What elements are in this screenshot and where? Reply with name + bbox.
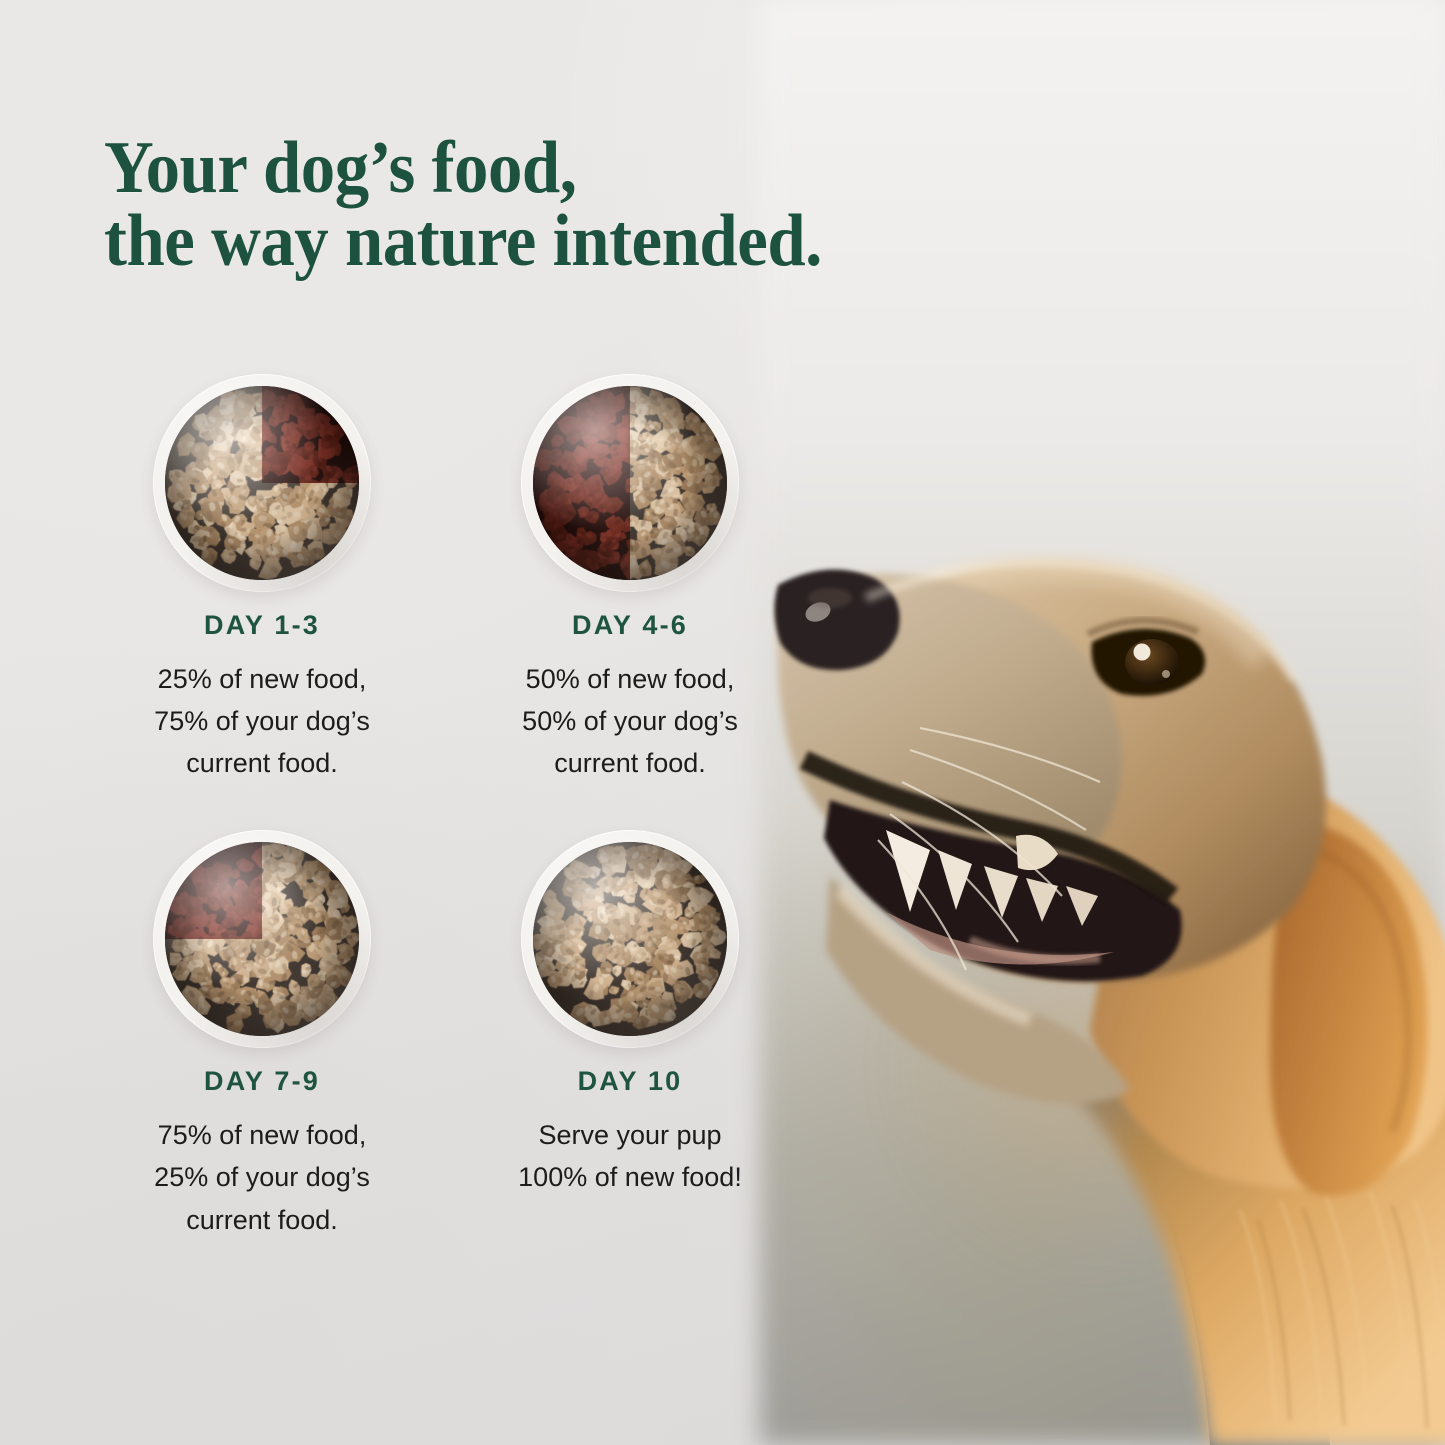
kibble-area xyxy=(533,386,727,580)
infographic-page: Your dog’s food, the way nature intended… xyxy=(0,0,1445,1445)
step-day-10: DAY 10 Serve your pup 100% of new food! xyxy=(460,828,800,1240)
kibble-canvas xyxy=(165,386,359,580)
step-day-4-6: DAY 4-6 50% of new food, 50% of your dog… xyxy=(460,372,800,784)
bowl-day-1-3-wrap xyxy=(92,372,432,594)
day-label: DAY 7-9 xyxy=(92,1066,432,1097)
day-description: Serve your pup 100% of new food! xyxy=(460,1114,800,1198)
day-description: 50% of new food, 50% of your dog’s curre… xyxy=(460,658,800,784)
day-label: DAY 1-3 xyxy=(92,610,432,641)
day-label: DAY 10 xyxy=(460,1066,800,1097)
food-bowl xyxy=(153,374,371,592)
feeding-transition-steps: DAY 1-3 25% of new food, 75% of your dog… xyxy=(92,372,832,1241)
step-day-1-3: DAY 1-3 25% of new food, 75% of your dog… xyxy=(92,372,432,784)
day-label: DAY 4-6 xyxy=(460,610,800,641)
kibble-area xyxy=(165,842,359,1036)
day-description: 25% of new food, 75% of your dog’s curre… xyxy=(92,658,432,784)
kibble-area xyxy=(165,386,359,580)
background-warm-glow xyxy=(900,820,1445,1440)
page-title: Your dog’s food, the way nature intended… xyxy=(104,132,822,279)
food-bowl xyxy=(521,830,739,1048)
kibble-area xyxy=(533,842,727,1036)
kibble-canvas xyxy=(533,386,727,580)
food-bowl xyxy=(521,374,739,592)
bowl-day-4-6-wrap xyxy=(460,372,800,594)
bowl-day-7-9-wrap xyxy=(92,828,432,1050)
kibble-canvas xyxy=(165,842,359,1036)
day-description: 75% of new food, 25% of your dog’s curre… xyxy=(92,1114,432,1240)
bowl-day-10-wrap xyxy=(460,828,800,1050)
step-day-7-9: DAY 7-9 75% of new food, 25% of your dog… xyxy=(92,828,432,1240)
food-bowl xyxy=(153,830,371,1048)
kibble-canvas xyxy=(533,842,727,1036)
